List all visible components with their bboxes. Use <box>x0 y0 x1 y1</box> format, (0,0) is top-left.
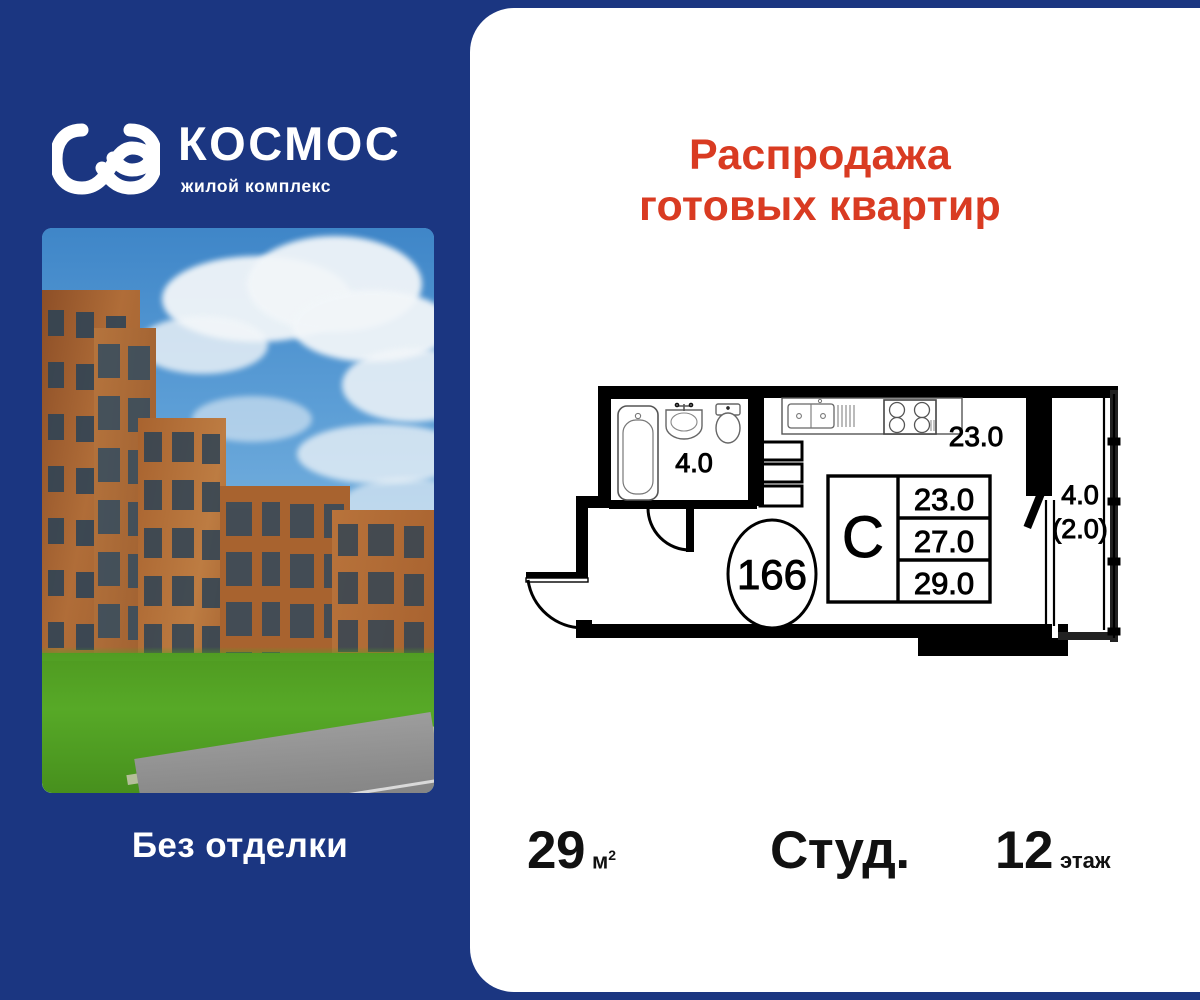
bathroom-area-label: 4.0 <box>675 448 713 478</box>
summary-floor: 12 этаж <box>995 824 1110 877</box>
floor-plan: 4.0 <box>498 376 1188 676</box>
summary-bar: 29 м2 Студ. 12 этаж <box>470 814 1200 906</box>
summary-type: Студ. <box>770 824 910 877</box>
table-value-2: 27.0 <box>914 524 974 559</box>
summary-area-unit: м2 <box>592 848 616 872</box>
infinity-icon <box>52 122 160 196</box>
balcony-area-label: 4.0 <box>1061 480 1099 510</box>
headline-line-1: Распродажа <box>470 130 1170 181</box>
living-area-label: 23.0 <box>949 421 1004 452</box>
summary-floor-unit: этаж <box>1060 850 1110 872</box>
building-photo <box>42 228 434 793</box>
finish-label: Без отделки <box>0 826 480 866</box>
apartment-type-letter: С <box>842 505 884 570</box>
brand-name: КОСМОС <box>178 120 401 167</box>
table-value-1: 23.0 <box>914 482 974 517</box>
left-blue-panel: КОСМОС жилой комплекс <box>0 0 480 1000</box>
summary-floor-value: 12 <box>995 824 1053 877</box>
brand-logo: КОСМОС жилой комплекс <box>52 120 401 197</box>
summary-area-value: 29 <box>527 824 585 877</box>
table-value-3: 29.0 <box>914 566 974 601</box>
brand-text-block: КОСМОС жилой комплекс <box>178 120 401 197</box>
summary-type-value: Студ. <box>770 824 910 877</box>
balcony-area-reduced-label: (2.0) <box>1052 514 1108 544</box>
apartment-number: 166 <box>737 551 807 598</box>
headline-line-2: готовых квартир <box>470 181 1170 232</box>
summary-area: 29 м2 <box>527 824 616 877</box>
cloud <box>138 316 268 374</box>
content-card: Распродажа готовых квартир <box>470 8 1200 992</box>
page-title: Распродажа готовых квартир <box>470 130 1170 231</box>
brand-subtitle: жилой комплекс <box>181 176 331 197</box>
